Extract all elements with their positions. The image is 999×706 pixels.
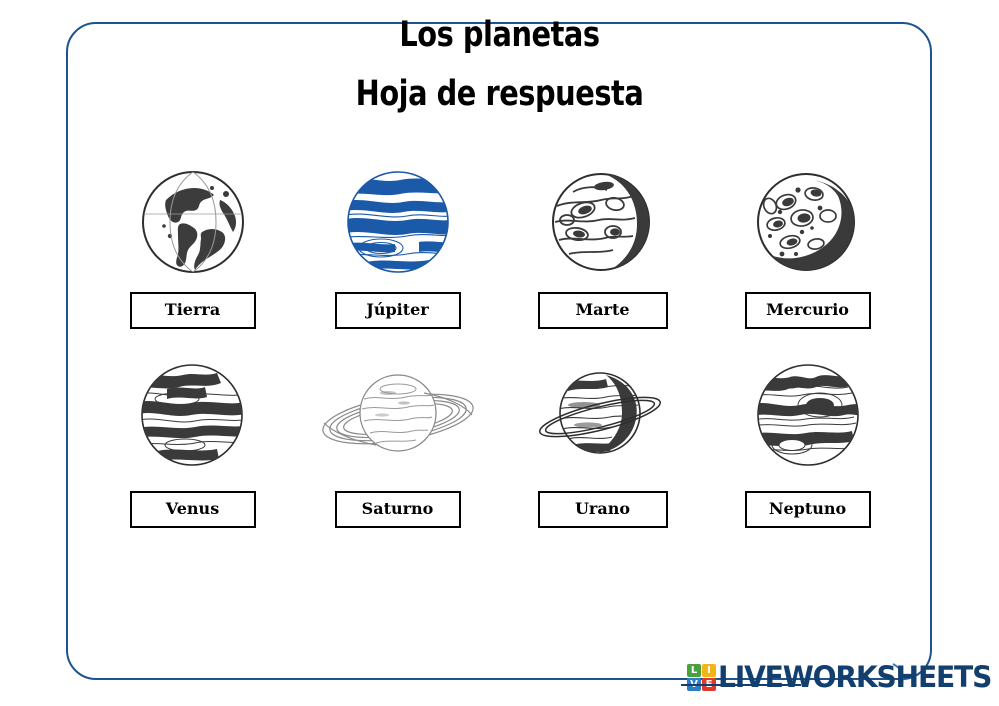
- saturn-planet-icon: [314, 351, 482, 479]
- planet-cell-marte: Marte: [500, 160, 705, 329]
- logo-tile-e: E: [702, 678, 716, 691]
- planet-row-1: Tierra: [90, 160, 910, 329]
- planet-label-box-urano[interactable]: Urano: [538, 491, 668, 528]
- mercury-planet-icon: [752, 160, 864, 284]
- planet-grid: Tierra: [90, 160, 910, 528]
- planet-cell-mercurio: Mercurio: [705, 160, 910, 329]
- logo-tile-l: L: [687, 664, 701, 677]
- liveworksheets-logo: L I V E LIVEWORKSHEETS: [687, 657, 999, 697]
- planet-cell-saturno: Saturno: [295, 351, 500, 528]
- planet-label-urano: Urano: [575, 499, 630, 518]
- jupiter-planet-icon: [345, 160, 451, 284]
- planet-label-mercurio: Mercurio: [766, 300, 849, 319]
- planet-label-box-marte[interactable]: Marte: [538, 292, 668, 329]
- planet-cell-venus: Venus: [90, 351, 295, 528]
- logo-tile-i: I: [702, 664, 716, 677]
- planet-label-jupiter: Júpiter: [366, 300, 428, 319]
- mars-planet-icon: [547, 160, 659, 284]
- planet-label-tierra: Tierra: [165, 300, 220, 319]
- logo-wordmark: LIVEWORKSHEETS: [718, 660, 991, 694]
- planet-label-marte: Marte: [575, 300, 629, 319]
- planet-label-box-saturno[interactable]: Saturno: [335, 491, 461, 528]
- uranus-planet-icon: [528, 351, 678, 479]
- planet-label-box-tierra[interactable]: Tierra: [130, 292, 256, 329]
- logo-tile-v: V: [687, 678, 701, 691]
- neptune-planet-icon: [752, 351, 864, 479]
- venus-planet-icon: [137, 351, 249, 479]
- title-line-1: Los planetas: [35, 18, 964, 53]
- planet-cell-urano: Urano: [500, 351, 705, 528]
- planet-label-venus: Venus: [166, 499, 219, 518]
- planet-cell-neptuno: Neptuno: [705, 351, 910, 528]
- planet-label-box-venus[interactable]: Venus: [130, 491, 256, 528]
- planet-row-2: Venus: [90, 351, 910, 528]
- earth-planet-icon: [140, 160, 246, 284]
- page-title: Los planetas Hoja de respuesta: [0, 18, 999, 108]
- planet-cell-jupiter: Júpiter: [295, 160, 500, 329]
- planet-label-saturno: Saturno: [362, 499, 434, 518]
- planet-label-box-jupiter[interactable]: Júpiter: [335, 292, 461, 329]
- planet-cell-tierra: Tierra: [90, 160, 295, 329]
- planet-label-neptuno: Neptuno: [769, 499, 846, 518]
- planet-label-box-mercurio[interactable]: Mercurio: [745, 292, 871, 329]
- title-line-2: Hoja de respuesta: [35, 77, 964, 112]
- logo-letter-tiles: L I V E: [687, 664, 716, 691]
- planet-label-box-neptuno[interactable]: Neptuno: [745, 491, 871, 528]
